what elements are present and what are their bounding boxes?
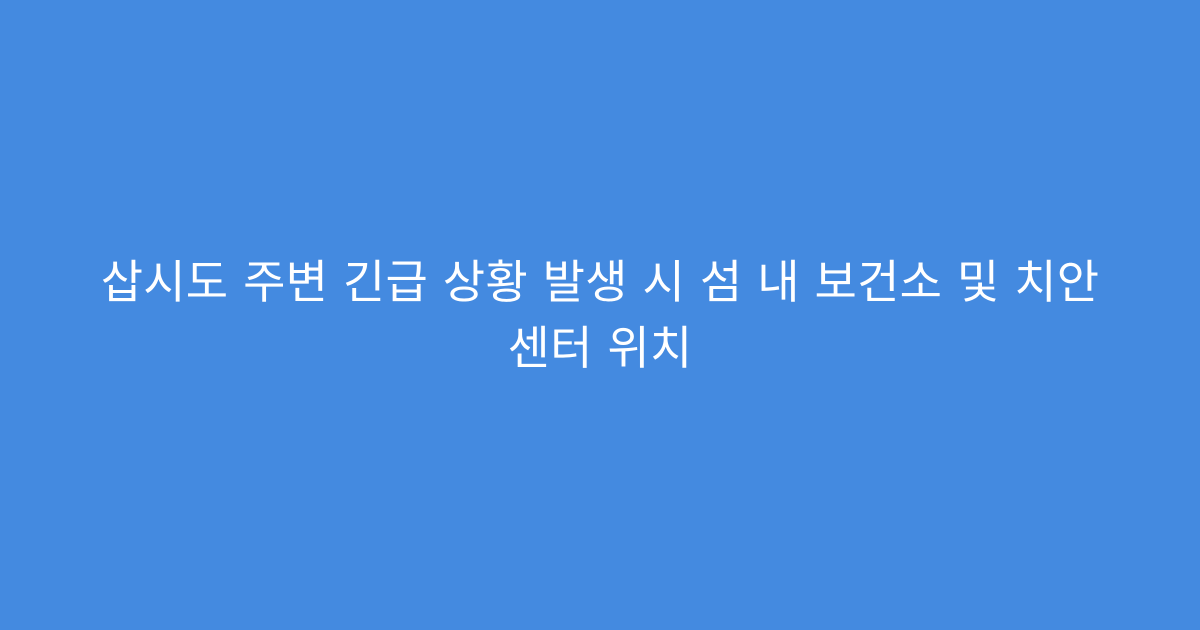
title-card: 삽시도 주변 긴급 상황 발생 시 섬 내 보건소 및 치안 센터 위치 bbox=[0, 0, 1200, 630]
title-block: 삽시도 주변 긴급 상황 발생 시 섬 내 보건소 및 치안 센터 위치 bbox=[80, 249, 1120, 381]
page-title: 삽시도 주변 긴급 상황 발생 시 섬 내 보건소 및 치안 센터 위치 bbox=[100, 249, 1100, 381]
